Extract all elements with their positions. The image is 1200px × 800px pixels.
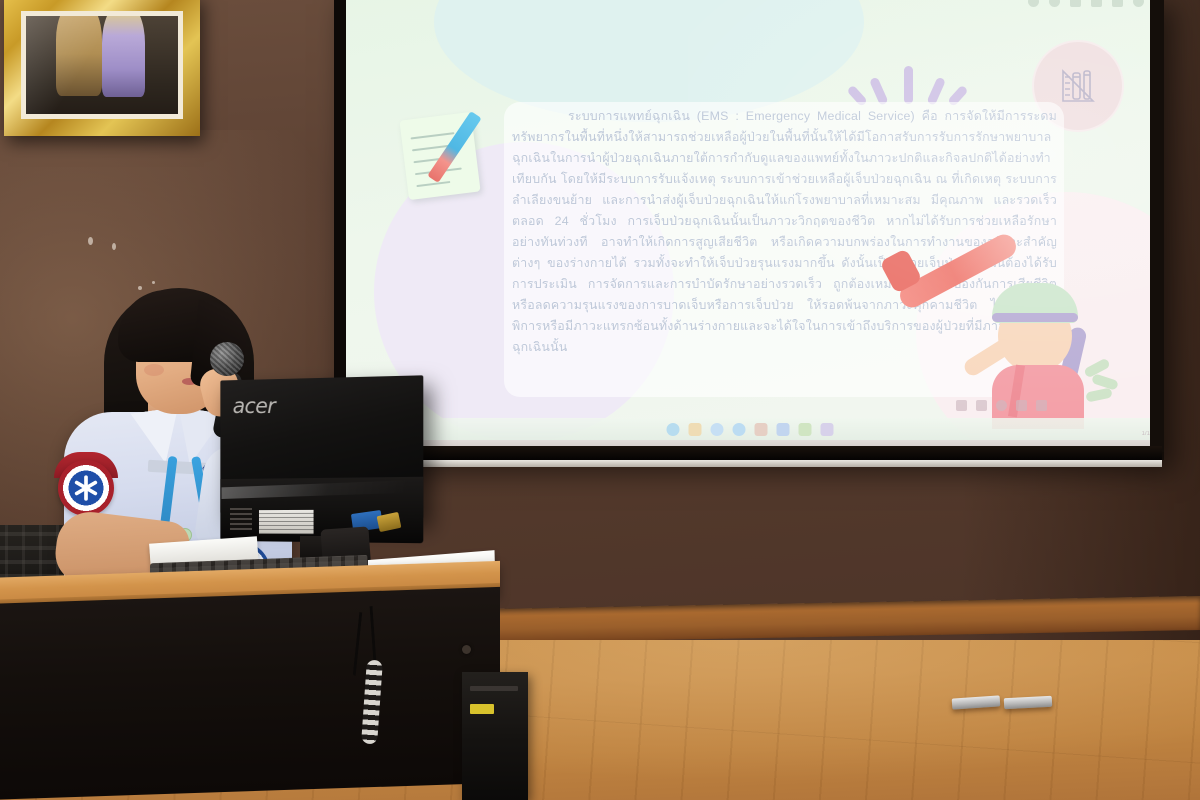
monitor-vents xyxy=(230,508,252,530)
search-icon[interactable] xyxy=(1028,0,1039,7)
record-icon[interactable] xyxy=(1049,0,1060,7)
powerpoint-icon[interactable] xyxy=(755,423,768,436)
acer-logo: acer xyxy=(233,394,275,418)
app-icon[interactable] xyxy=(821,423,834,436)
sunburst-illustration xyxy=(856,50,966,104)
windows-taskbar[interactable] xyxy=(344,418,1156,440)
screen-bottom-rail-light xyxy=(336,460,1162,467)
leaf-icon[interactable] xyxy=(1036,400,1047,411)
window-icon[interactable] xyxy=(1016,400,1027,411)
plant-decoration xyxy=(1084,357,1124,403)
pen-icon[interactable] xyxy=(1091,0,1102,7)
screen-right-edge xyxy=(1150,0,1164,452)
desk-knob[interactable] xyxy=(462,645,471,654)
pc-sticker xyxy=(470,704,494,714)
screen-bottom-rail xyxy=(336,446,1162,460)
royal-portrait-photo xyxy=(26,16,178,114)
pc-drive-slot xyxy=(470,686,518,691)
girl-hat-band xyxy=(992,313,1078,322)
undo-icon[interactable] xyxy=(956,400,967,411)
lecture-room-scene: ระบบการแพทย์ฉุกเฉิน (EMS : Emergency Med… xyxy=(0,0,1200,800)
frame-glass-reflection xyxy=(26,16,178,114)
edge-icon[interactable] xyxy=(667,423,680,436)
frame-matte xyxy=(21,11,183,119)
cursor-icon[interactable] xyxy=(976,400,987,411)
word-icon[interactable] xyxy=(777,423,790,436)
cheek-blush xyxy=(144,364,164,376)
chrome-icon[interactable] xyxy=(733,423,746,436)
notepad-pen-illustration xyxy=(404,104,496,200)
desk-front-panel xyxy=(0,587,500,800)
monitor-label-sticker xyxy=(259,510,314,534)
presentation-slide: ระบบการแพทย์ฉุกเฉิน (EMS : Emergency Med… xyxy=(344,0,1156,440)
slide-bottom-toolbar[interactable] xyxy=(956,400,1076,411)
expand-icon[interactable] xyxy=(1112,0,1123,7)
pc-tower xyxy=(462,672,528,800)
dust-speck xyxy=(88,237,93,245)
folder-icon[interactable] xyxy=(689,423,702,436)
slide-page-number: 1/1 xyxy=(1142,431,1150,437)
mail-icon[interactable] xyxy=(711,423,724,436)
slide-top-toolbar[interactable] xyxy=(1028,0,1144,7)
star-of-life-icon xyxy=(73,475,99,501)
comment-icon[interactable] xyxy=(996,400,1007,411)
projector-screen-surface: ระบบการแพทย์ฉุกเฉิน (EMS : Emergency Med… xyxy=(344,0,1156,440)
grid-icon[interactable] xyxy=(1070,0,1081,7)
royal-portrait-frame xyxy=(4,0,200,136)
shoulder-star-of-life-patch xyxy=(58,460,114,516)
dust-speck xyxy=(112,243,116,250)
more-icon[interactable] xyxy=(1133,0,1144,7)
taskbar-icon-row[interactable] xyxy=(667,423,834,436)
media-icon[interactable] xyxy=(799,423,812,436)
microphone-head xyxy=(210,342,244,376)
